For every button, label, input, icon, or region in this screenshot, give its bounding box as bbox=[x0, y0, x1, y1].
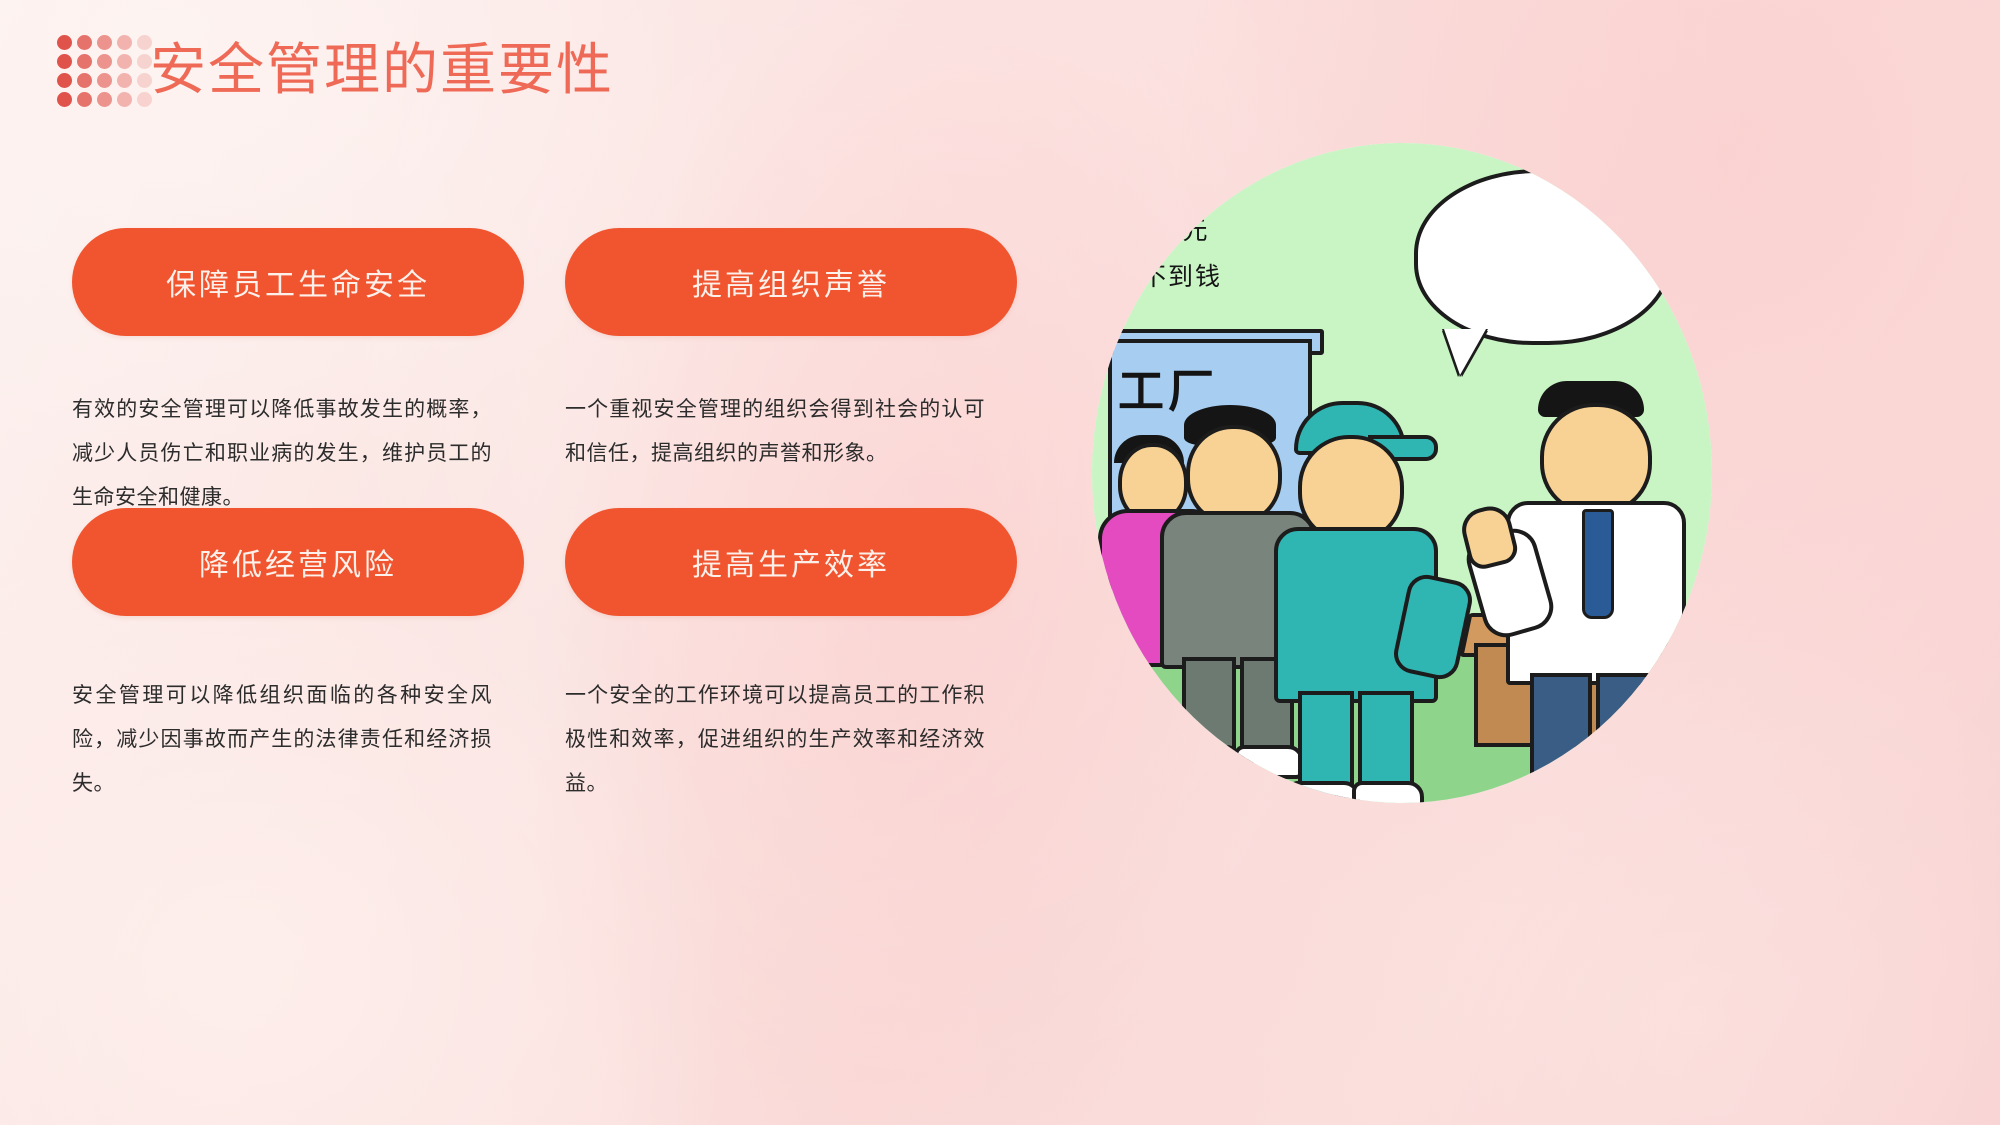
illustration-canvas: 工厂 每天报酬8元拿不到钱 bbox=[1092, 143, 1712, 803]
worker-teal-shoe-right bbox=[1352, 781, 1424, 803]
body-text-2: 一个重视安全管理的组织会得到社会的认可和信任，提高组织的声誉和形象。 bbox=[565, 388, 985, 476]
pill-button-1[interactable]: 保障员工生命安全 bbox=[72, 228, 524, 336]
pill-button-3[interactable]: 降低经营风险 bbox=[72, 508, 524, 616]
boss-shoe-right bbox=[1590, 777, 1668, 803]
speech-bubble-line: 拿不到钱 bbox=[1114, 255, 1324, 301]
pill-button-2[interactable]: 提高组织声誉 bbox=[565, 228, 1017, 336]
worker-grey-shoe-left bbox=[1172, 745, 1242, 779]
speech-bubble-text: 每天报酬8元拿不到钱 bbox=[1114, 163, 1324, 301]
content-blocks: 保障员工生命安全 有效的安全管理可以降低事故发生的概率，减少人员伤亡和职业病的发… bbox=[0, 0, 1060, 1125]
speech-bubble-line: 每天 bbox=[1114, 163, 1324, 209]
pill-label-1: 保障员工生命安全 bbox=[166, 260, 430, 304]
content-block-1: 保障员工生命安全 有效的安全管理可以降低事故发生的概率，减少人员伤亡和职业病的发… bbox=[72, 228, 532, 520]
pill-label-3: 降低经营风险 bbox=[199, 540, 397, 584]
content-block-2: 提高组织声誉 一个重视安全管理的组织会得到社会的认可和信任，提高组织的声誉和形象… bbox=[565, 228, 1025, 476]
speech-bubble bbox=[1414, 169, 1672, 345]
pill-label-4: 提高生产效率 bbox=[692, 540, 890, 584]
boss-figure bbox=[1486, 381, 1696, 781]
slide: 安全管理的重要性 保障员工生命安全 有效的安全管理可以降低事故发生的概率，减少人… bbox=[0, 0, 2000, 1125]
body-text-3: 安全管理可以降低组织面临的各种安全风险，减少因事故而产生的法律责任和经济损失。 bbox=[72, 674, 492, 806]
cartoon-illustration: 工厂 每天报酬8元拿不到钱 bbox=[1092, 143, 1712, 803]
speech-bubble-line: 报酬8元 bbox=[1114, 209, 1324, 255]
content-block-4: 提高生产效率 一个安全的工作环境可以提高员工的工作积极性和效率，促进组织的生产效… bbox=[565, 508, 1025, 806]
worker-teal-shoe-left bbox=[1288, 781, 1360, 803]
speech-bubble-tail bbox=[1444, 329, 1486, 375]
body-text-1: 有效的安全管理可以降低事故发生的概率，减少人员伤亡和职业病的发生，维护员工的生命… bbox=[72, 388, 492, 520]
worker-grey-head bbox=[1186, 425, 1282, 525]
body-text-4: 一个安全的工作环境可以提高员工的工作积极性和效率，促进组织的生产效率和经济效益。 bbox=[565, 674, 985, 806]
pill-button-4[interactable]: 提高生产效率 bbox=[565, 508, 1017, 616]
content-block-3: 降低经营风险 安全管理可以降低组织面临的各种安全风险，减少因事故而产生的法律责任… bbox=[72, 508, 532, 806]
pill-label-2: 提高组织声誉 bbox=[692, 260, 890, 304]
boss-head bbox=[1540, 403, 1652, 515]
worker-teal-cap bbox=[1272, 401, 1447, 771]
boss-tie bbox=[1582, 509, 1614, 619]
boss-shoe-left bbox=[1520, 777, 1598, 803]
